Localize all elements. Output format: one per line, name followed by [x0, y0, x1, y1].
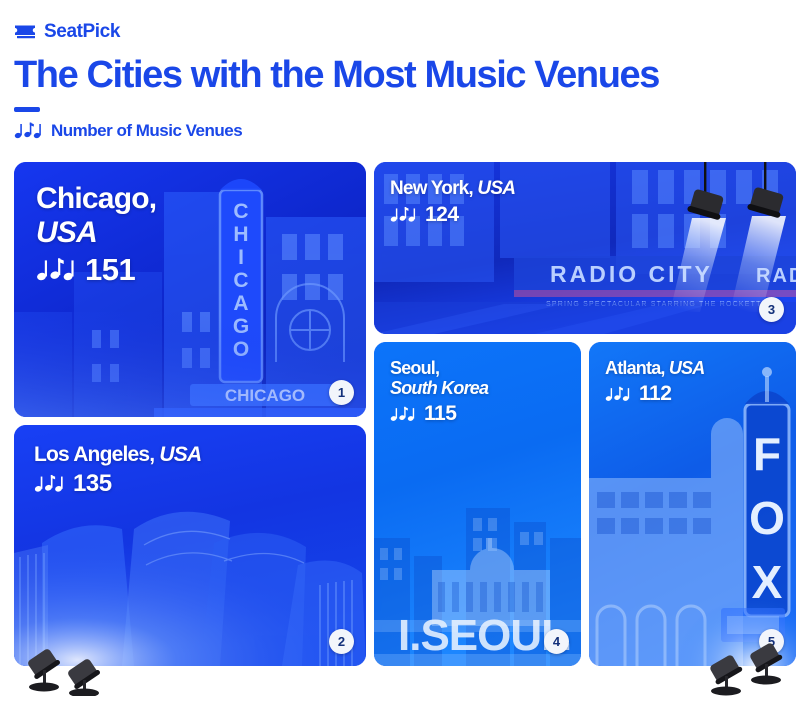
venue-count-row: 124 [390, 204, 780, 225]
city-label: Seoul, [390, 358, 439, 378]
city-card-los-angeles[interactable]: Los Angeles, USA [14, 425, 366, 666]
city-card-seoul[interactable]: I.SEOUL . Seoul, South Korea [374, 342, 581, 666]
city-name: Chicago, USA [36, 182, 344, 249]
rank-badge: 2 [329, 629, 354, 654]
legend: Number of Music Venues [14, 121, 796, 140]
venue-count: 124 [425, 204, 459, 225]
city-label: New York, [390, 178, 473, 199]
music-notes-icon [390, 405, 417, 423]
venue-count: 115 [424, 403, 456, 424]
venue-count-row: 135 [34, 472, 346, 496]
city-card-atlanta[interactable]: FOX Atlanta, USA [589, 342, 796, 666]
city-card-new-york[interactable]: RADIO CITY RADIO SPRING SPECTACULAR STAR… [374, 162, 796, 334]
music-notes-icon [36, 256, 78, 283]
rank-badge: 3 [759, 297, 784, 322]
city-name: Atlanta, USA [605, 358, 780, 378]
svg-text:I.SEOUL: I.SEOUL [398, 611, 567, 660]
rank-badge: 1 [329, 380, 354, 405]
music-notes-icon [605, 385, 632, 403]
ticket-icon [14, 22, 36, 40]
music-notes-icon [34, 473, 66, 494]
svg-text:O: O [749, 492, 785, 544]
city-label: Chicago, [36, 182, 156, 215]
card-body: Seoul, South Korea [374, 342, 581, 440]
header: SeatPick The Cities with the Most Music … [14, 18, 796, 140]
page-title: The Cities with the Most Music Venues [14, 56, 796, 96]
rank-badge: 5 [759, 629, 784, 654]
city-name: Los Angeles, USA [34, 443, 346, 467]
country-label: USA [477, 178, 515, 199]
city-label: Los Angeles, [34, 443, 154, 466]
brand: SeatPick [14, 18, 796, 44]
venue-count: 112 [639, 383, 671, 404]
venue-count: 135 [73, 472, 112, 496]
brand-name: SeatPick [44, 22, 120, 41]
country-label: South Korea [390, 378, 488, 398]
card-body: Los Angeles, USA [14, 425, 366, 514]
infographic-page: SeatPick The Cities with the Most Music … [0, 0, 810, 702]
svg-text:F: F [753, 428, 781, 480]
city-name: New York, USA [390, 178, 780, 199]
rank-badge: 4 [544, 629, 569, 654]
city-name: Seoul, South Korea [390, 358, 565, 398]
city-card-chicago[interactable]: CHI CAG O CHICAGO [14, 162, 366, 417]
title-divider [14, 107, 40, 112]
legend-label: Number of Music Venues [51, 122, 242, 139]
city-label: Atlanta, [605, 358, 665, 378]
venue-count-row: 151 [36, 254, 344, 285]
country-label: USA [159, 443, 201, 466]
music-notes-icon [14, 121, 44, 140]
music-notes-icon [390, 205, 418, 224]
card-body: Atlanta, USA [589, 342, 796, 420]
country-label: USA [36, 216, 97, 249]
card-body: Chicago, USA [14, 162, 366, 305]
country-label: USA [669, 358, 705, 378]
venue-count-row: 115 [390, 403, 565, 424]
venue-count-row: 112 [605, 383, 780, 404]
venue-count: 151 [85, 254, 135, 285]
card-body: New York, USA [374, 162, 796, 241]
city-card-grid: CHI CAG O CHICAGO [14, 162, 796, 666]
